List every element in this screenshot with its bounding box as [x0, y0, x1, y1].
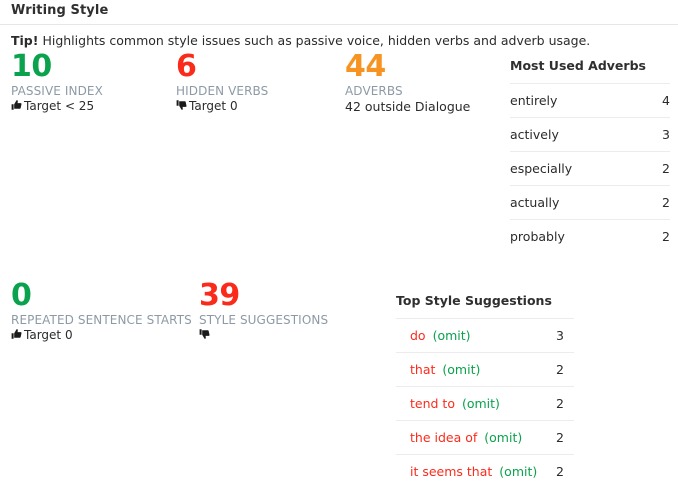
stat-style-suggestions-target: [199, 328, 328, 343]
stat-repeated-sentence-starts-value: 0: [11, 281, 192, 311]
stat-style-suggestions: 39 STYLE SUGGESTIONS: [199, 281, 328, 343]
thumbs-down-icon: [176, 99, 188, 111]
adverb-term: entirely: [510, 84, 630, 118]
writing-style-panel: Writing Style Tip! Highlights common sty…: [0, 0, 678, 500]
adverb-count: 2: [630, 220, 670, 254]
stat-repeated-sentence-starts-target-text: Target 0: [24, 328, 73, 342]
stat-adverbs-value: 44: [345, 52, 470, 82]
stat-style-suggestions-label: STYLE SUGGESTIONS: [199, 313, 328, 327]
table-row[interactable]: do(omit) 3: [396, 319, 574, 353]
stat-repeated-sentence-starts-label: REPEATED SENTENCE STARTS: [11, 313, 192, 327]
suggestion-term: do(omit): [396, 319, 537, 353]
suggestion-action: (omit): [442, 362, 480, 377]
table-row[interactable]: probably 2: [510, 220, 670, 254]
stat-passive-index-value: 10: [11, 52, 103, 82]
table-row[interactable]: especially 2: [510, 152, 670, 186]
stat-passive-index-target-text: Target < 25: [24, 99, 94, 113]
stat-hidden-verbs-target: Target 0: [176, 99, 268, 114]
table-row[interactable]: tend to(omit) 2: [396, 387, 574, 421]
table-row[interactable]: that(omit) 2: [396, 353, 574, 387]
suggestion-count: 3: [537, 319, 574, 353]
thumbs-up-icon: [11, 99, 23, 111]
suggestion-term: the idea of(omit): [396, 421, 537, 455]
table-row[interactable]: the idea of(omit) 2: [396, 421, 574, 455]
stat-hidden-verbs-value: 6: [176, 52, 268, 82]
stat-hidden-verbs: 6 HIDDEN VERBS Target 0: [176, 52, 268, 114]
adverb-count: 2: [630, 186, 670, 220]
top-style-suggestions-title: Top Style Suggestions: [396, 293, 574, 308]
most-used-adverbs-title: Most Used Adverbs: [510, 58, 670, 73]
stat-hidden-verbs-label: HIDDEN VERBS: [176, 84, 268, 98]
suggestion-phrase: the idea of: [410, 430, 477, 445]
stat-passive-index-target: Target < 25: [11, 99, 103, 114]
adverb-term: probably: [510, 220, 630, 254]
top-style-suggestions-table: Top Style Suggestions do(omit) 3 that(om…: [396, 293, 574, 488]
adverb-count: 2: [630, 152, 670, 186]
suggestion-term: it seems that(omit): [396, 455, 537, 489]
adverb-term: actively: [510, 118, 630, 152]
stat-style-suggestions-value: 39: [199, 281, 328, 311]
page-title: Writing Style: [11, 3, 108, 18]
suggestion-phrase: it seems that: [410, 464, 492, 479]
suggestion-action: (omit): [484, 430, 522, 445]
suggestion-action: (omit): [433, 328, 471, 343]
tip-text: Tip! Highlights common style issues such…: [11, 33, 590, 48]
suggestion-count: 2: [537, 387, 574, 421]
thumbs-up-icon: [11, 328, 23, 340]
adverb-term: especially: [510, 152, 630, 186]
table-row[interactable]: actively 3: [510, 118, 670, 152]
table-row[interactable]: it seems that(omit) 2: [396, 455, 574, 489]
suggestion-action: (omit): [499, 464, 537, 479]
suggestion-count: 2: [537, 421, 574, 455]
suggestion-phrase: do: [410, 328, 426, 343]
adverb-count: 3: [630, 118, 670, 152]
panel-header: Writing Style: [0, 0, 678, 25]
tip-body: Highlights common style issues such as p…: [42, 33, 590, 48]
tip-label: Tip!: [11, 33, 38, 48]
thumbs-down-icon: [199, 328, 211, 340]
suggestion-phrase: that: [410, 362, 435, 377]
suggestion-count: 2: [537, 455, 574, 489]
stat-hidden-verbs-target-text: Target 0: [189, 99, 238, 113]
adverb-term: actually: [510, 186, 630, 220]
most-used-adverbs-table: Most Used Adverbs entirely 4 actively 3 …: [510, 58, 670, 253]
stat-passive-index-label: PASSIVE INDEX: [11, 84, 103, 98]
stat-repeated-sentence-starts: 0 REPEATED SENTENCE STARTS Target 0: [11, 281, 192, 343]
table-row[interactable]: entirely 4: [510, 84, 670, 118]
stat-repeated-sentence-starts-target: Target 0: [11, 328, 192, 343]
suggestion-phrase: tend to: [410, 396, 455, 411]
suggestion-term: tend to(omit): [396, 387, 537, 421]
suggestion-action: (omit): [462, 396, 500, 411]
suggestion-term: that(omit): [396, 353, 537, 387]
suggestion-count: 2: [537, 353, 574, 387]
table-row[interactable]: actually 2: [510, 186, 670, 220]
stat-passive-index: 10 PASSIVE INDEX Target < 25: [11, 52, 103, 114]
stat-adverbs-sub: 42 outside Dialogue: [345, 99, 470, 114]
stat-adverbs-label: ADVERBS: [345, 84, 470, 98]
adverb-count: 4: [630, 84, 670, 118]
stat-adverbs: 44 ADVERBS 42 outside Dialogue: [345, 52, 470, 114]
